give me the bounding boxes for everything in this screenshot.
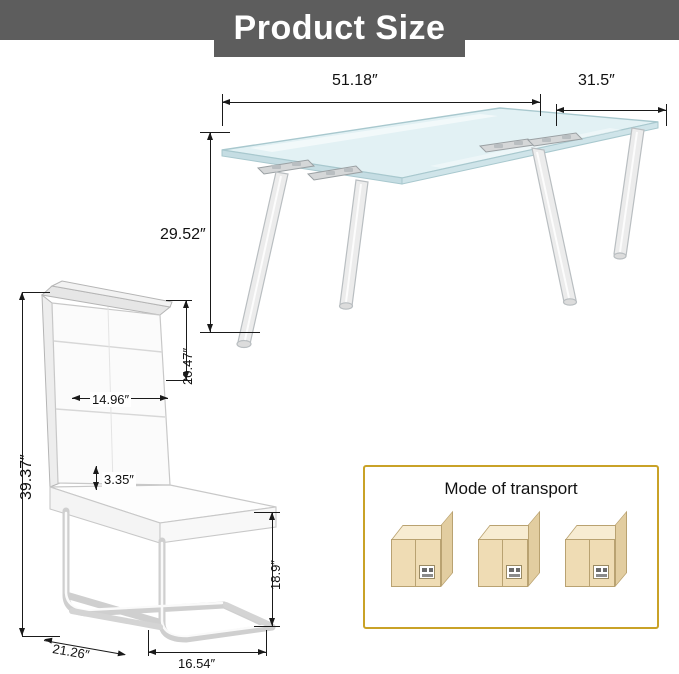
carton-box-3 — [565, 525, 627, 587]
carton-label-icon — [506, 565, 522, 579]
carton-side-panel — [528, 511, 540, 587]
table-depth-ext-left — [556, 104, 557, 126]
chair-width-arrow-left — [148, 649, 156, 655]
carton-front-panel — [565, 539, 615, 587]
chair-width-label: 16.54″ — [178, 656, 215, 671]
table-depth-label: 31.5″ — [578, 72, 615, 90]
chair-seat-height-ext-top — [254, 512, 280, 513]
carton-side-panel — [615, 511, 627, 587]
chair-seat-height-arrow-down — [269, 618, 275, 626]
chair-back-height-label: 20.47″ — [180, 348, 195, 385]
table-height-arrow-up — [207, 132, 213, 140]
table-width-ext-left — [222, 94, 223, 126]
carton-seam — [415, 539, 416, 587]
carton-front-panel — [478, 539, 528, 587]
carton-front-panel — [391, 539, 441, 587]
chair-back-height-ext-top — [166, 300, 192, 301]
table-depth-ext-right — [666, 104, 667, 126]
chair-seat-thickness-label: 3.35″ — [102, 472, 136, 487]
carton-side-panel — [441, 511, 453, 587]
table-width-label: 51.18″ — [332, 72, 378, 90]
chair-seat-thickness-arrow-down — [93, 482, 99, 490]
chair-total-height-ext-bottom — [22, 636, 60, 637]
table-depth-dim-line — [556, 110, 666, 111]
chair-depth-arrow-left — [44, 636, 53, 643]
chair-back-width-arrow-left — [72, 395, 80, 401]
carton-box-2 — [478, 525, 540, 587]
chair-total-height-ext-top — [22, 292, 50, 293]
dining-chair-illustration — [10, 255, 300, 665]
chair-total-height-arrow-up — [19, 292, 25, 300]
chair-seat-height-arrow-up — [269, 512, 275, 520]
chair-back-height-arrow-up — [183, 300, 189, 308]
chair-back-width-label: 14.96″ — [90, 392, 131, 407]
table-depth-arrow-left — [556, 107, 564, 113]
table-width-dim-line — [222, 102, 540, 103]
chair-width-arrow-right — [258, 649, 266, 655]
chair-back-width-arrow-right — [160, 395, 168, 401]
carton-label-icon — [419, 565, 435, 579]
carton-label-icon — [593, 565, 609, 579]
transport-title: Mode of transport — [365, 479, 657, 499]
chair-width-ext-right — [266, 630, 267, 656]
chair-width-ext-left — [148, 630, 149, 656]
page-title: Product Size — [0, 0, 679, 57]
table-width-ext-right — [540, 94, 541, 116]
chair-depth-arrow-right — [118, 650, 127, 657]
chair-total-height-label: 39.37″ — [18, 454, 36, 500]
carton-seam — [589, 539, 590, 587]
table-height-ext-top — [200, 132, 230, 133]
chair-seat-thickness-arrow-up — [93, 466, 99, 474]
table-depth-arrow-right — [658, 107, 666, 113]
chair-seat-height-ext-bottom — [254, 626, 280, 627]
chair-seat-height-label: 18.9″ — [268, 560, 283, 590]
carton-seam — [502, 539, 503, 587]
transport-panel: Mode of transport — [363, 465, 659, 629]
carton-box-1 — [391, 525, 453, 587]
table-height-label: 29.52″ — [160, 226, 206, 244]
chair-width-dim-line — [148, 652, 266, 653]
table-width-arrow-right — [532, 99, 540, 105]
table-width-arrow-left — [222, 99, 230, 105]
chair-total-height-arrow-down — [19, 628, 25, 636]
